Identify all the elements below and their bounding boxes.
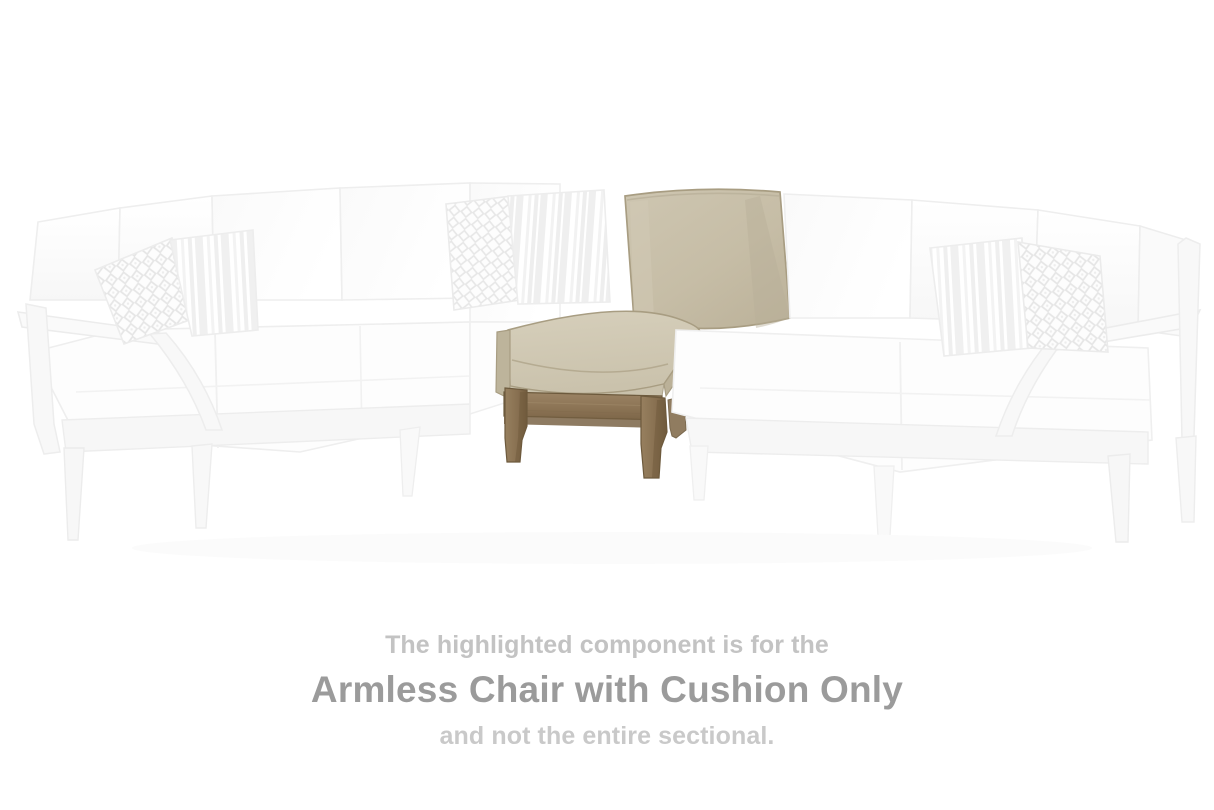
product-image (0, 0, 1214, 620)
left-mid-leg (400, 427, 420, 496)
armless-chair-wood-frame (504, 388, 686, 478)
armless-chair-back-cushion (625, 189, 790, 328)
lattice-pillow-right (1018, 242, 1108, 352)
caption-product-name: Armless Chair with Cushion Only (0, 666, 1214, 714)
right-back-post (1178, 238, 1200, 440)
right-mid-leg (874, 466, 894, 536)
right-inner-leg (690, 446, 708, 500)
chair-front-apron (504, 392, 662, 420)
stripe-pillow-center (508, 190, 610, 304)
module-left-arm-loveseat (18, 183, 470, 540)
right-rear-leg (1176, 436, 1196, 522)
right-front-leg (1108, 454, 1130, 542)
caption-intro-line: The highlighted component is for the (0, 628, 1214, 662)
stripe-pillow-right (930, 238, 1032, 356)
left-front-leg (64, 448, 84, 540)
caption-block: The highlighted component is for the Arm… (0, 628, 1214, 753)
left-rear-leg (192, 444, 212, 528)
floor-shadow (132, 532, 1092, 564)
caption-disclaimer-line: and not the entire sectional. (0, 719, 1214, 753)
sectional-illustration (0, 0, 1214, 620)
